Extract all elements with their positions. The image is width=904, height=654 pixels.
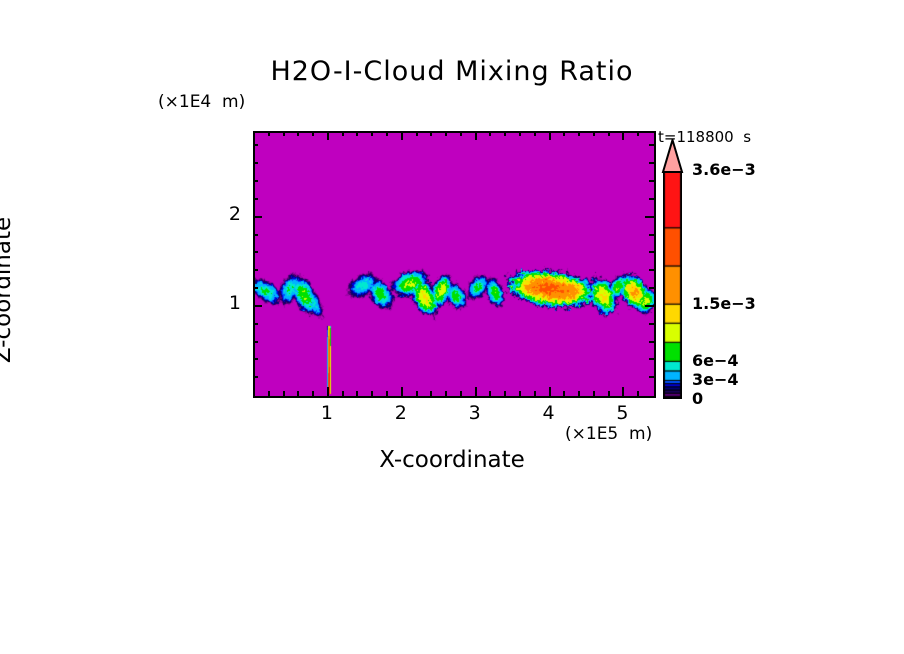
y-minor-tick-right (649, 144, 654, 146)
x-minor-tick-top (356, 131, 358, 136)
y-minor-tick (253, 144, 258, 146)
y-minor-tick (253, 198, 258, 200)
colorbar (663, 170, 682, 399)
y-minor-tick (253, 287, 258, 289)
x-minor-tick-top (312, 131, 314, 136)
x-minor-tick-top (268, 131, 270, 136)
x-minor-tick (312, 391, 314, 396)
y-axis-title: Z-coordinate (0, 170, 16, 410)
x-minor-tick-top (534, 131, 536, 136)
colorbar-gradient (663, 170, 682, 399)
figure-canvas: H2O-I-Cloud Mixing Ratio (×1E4 m) (×1E5 … (0, 0, 904, 654)
x-minor-tick-top (489, 131, 491, 136)
x-minor-tick (356, 391, 358, 396)
y-minor-tick (253, 358, 258, 360)
x-tick-label: 5 (602, 402, 642, 424)
y-minor-tick (253, 341, 258, 343)
y-minor-tick (253, 162, 258, 164)
x-minor-tick-top (342, 131, 344, 136)
y-minor-tick (253, 323, 258, 325)
x-minor-tick-top (297, 131, 299, 136)
x-minor-tick-top (445, 131, 447, 136)
x-minor-tick (504, 391, 506, 396)
y-minor-tick-right (649, 341, 654, 343)
x-minor-tick-top (371, 131, 373, 136)
y-minor-tick (253, 269, 258, 271)
x-minor-tick (297, 391, 299, 396)
x-minor-tick-top (386, 131, 388, 136)
y-minor-tick-right (649, 323, 654, 325)
y-axis-units-label: (×1E4 m) (158, 92, 245, 112)
x-axis-units-label: (×1E5 m) (565, 424, 652, 444)
y-minor-tick-right (649, 234, 654, 236)
x-major-tick-top (549, 131, 551, 140)
x-minor-tick-top (578, 131, 580, 136)
y-tick-label: 2 (211, 203, 241, 225)
x-minor-tick-top (519, 131, 521, 136)
y-minor-tick (253, 180, 258, 182)
x-tick-label: 4 (529, 402, 569, 424)
x-minor-tick (371, 391, 373, 396)
y-minor-tick-right (649, 376, 654, 378)
x-minor-tick-top (504, 131, 506, 136)
x-minor-tick (608, 391, 610, 396)
contour-field (255, 133, 654, 396)
x-minor-tick (283, 391, 285, 396)
x-tick-label: 1 (307, 402, 347, 424)
x-major-tick (549, 387, 551, 396)
x-minor-tick-top (430, 131, 432, 136)
x-major-tick (401, 387, 403, 396)
colorbar-tick-label: 3.6e−3 (692, 160, 756, 179)
x-major-tick-top (475, 131, 477, 140)
page-title: H2O-I-Cloud Mixing Ratio (0, 56, 904, 87)
y-minor-tick-right (649, 358, 654, 360)
x-major-tick-top (622, 131, 624, 140)
y-minor-tick (253, 251, 258, 253)
y-major-tick-right (645, 305, 654, 307)
y-tick-label: 1 (211, 292, 241, 314)
y-minor-tick-right (649, 251, 654, 253)
colorbar-tick-label: 0 (692, 389, 703, 408)
x-tick-label: 3 (455, 402, 495, 424)
x-minor-tick-top (593, 131, 595, 136)
y-minor-tick (253, 234, 258, 236)
x-minor-tick-top (608, 131, 610, 136)
x-axis-title: X-coordinate (0, 447, 904, 473)
y-minor-tick-right (649, 287, 654, 289)
colorbar-tick-label: 3e−4 (692, 370, 739, 389)
colorbar-extend-arrow (660, 139, 685, 177)
x-minor-tick (445, 391, 447, 396)
x-minor-tick-top (637, 131, 639, 136)
x-major-tick-top (401, 131, 403, 140)
x-minor-tick (519, 391, 521, 396)
x-minor-tick (460, 391, 462, 396)
plot-area (253, 131, 656, 398)
x-minor-tick (430, 391, 432, 396)
x-minor-tick (489, 391, 491, 396)
x-minor-tick (534, 391, 536, 396)
x-major-tick (622, 387, 624, 396)
x-major-tick (475, 387, 477, 396)
x-minor-tick (268, 391, 270, 396)
y-major-tick (253, 305, 262, 307)
colorbar-arrow-svg (660, 139, 685, 173)
x-minor-tick-top (416, 131, 418, 136)
x-major-tick (327, 387, 329, 396)
x-minor-tick (416, 391, 418, 396)
x-minor-tick (386, 391, 388, 396)
y-minor-tick-right (649, 269, 654, 271)
x-major-tick-top (327, 131, 329, 140)
y-minor-tick-right (649, 198, 654, 200)
x-minor-tick (578, 391, 580, 396)
x-minor-tick (342, 391, 344, 396)
x-minor-tick (637, 391, 639, 396)
colorbar-tick-label: 6e−4 (692, 351, 739, 370)
x-minor-tick (593, 391, 595, 396)
x-minor-tick-top (283, 131, 285, 136)
y-minor-tick-right (649, 180, 654, 182)
x-tick-label: 2 (381, 402, 421, 424)
colorbar-tick-label: 1.5e−3 (692, 294, 756, 313)
y-minor-tick (253, 376, 258, 378)
x-minor-tick-top (563, 131, 565, 136)
y-major-tick-right (645, 216, 654, 218)
x-minor-tick-top (460, 131, 462, 136)
y-major-tick (253, 216, 262, 218)
x-minor-tick (563, 391, 565, 396)
y-minor-tick-right (649, 162, 654, 164)
